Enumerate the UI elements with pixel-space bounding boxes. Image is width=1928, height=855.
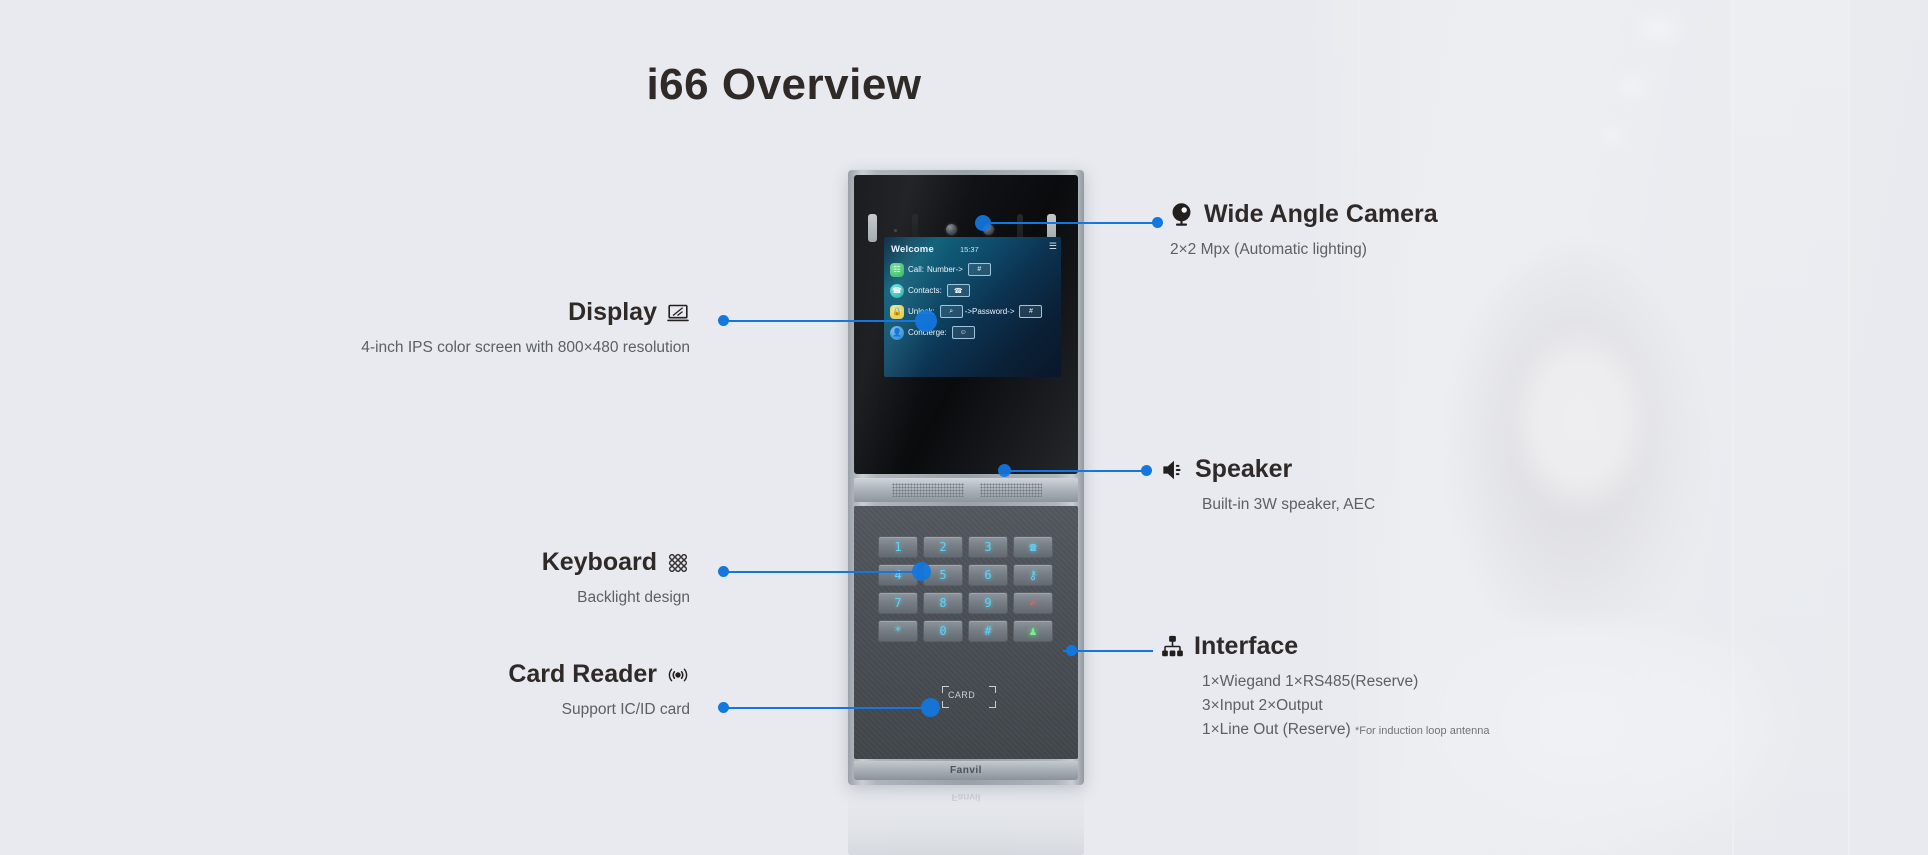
card-reader-zone: CARD — [942, 686, 996, 708]
page-title: i66 Overview — [0, 60, 1928, 110]
callout-interface-footnote: *For induction loop antenna — [1355, 725, 1490, 737]
key-hash: # — [968, 620, 1008, 642]
keypad-dots-icon — [666, 551, 690, 575]
callout-card-reader: Card Reader Support IC/ID card — [260, 660, 690, 722]
connector-dot-camera — [1152, 217, 1163, 228]
key-7: 7 — [878, 592, 918, 614]
key-concierge: ♟ — [1013, 620, 1053, 642]
screen-row-concierge-key: ☺ — [952, 326, 975, 339]
keypad-grid: 1 2 3 ☎ 4 5 6 ⚷ 7 8 9 ↶ * 0 # ♟ — [878, 536, 1054, 642]
screen-row-call-label: Call: — [908, 265, 924, 274]
connector-dot-interface — [1066, 645, 1077, 656]
callout-interface-line-2: 3×Input 2×Output — [1202, 694, 1489, 718]
callout-display: Display 4-inch IPS color screen with 800… — [180, 298, 690, 360]
key-call: ☎ — [1013, 536, 1053, 558]
brand-logo: Fanvil — [950, 765, 982, 776]
callout-speaker-title: Speaker — [1195, 455, 1292, 484]
screen-row-call: ☷ Call: Number-> # — [890, 259, 1057, 280]
page-title-text: i66 Overview — [646, 60, 921, 110]
key-6: 6 — [968, 564, 1008, 586]
key-1: 1 — [878, 536, 918, 558]
connector-dot-speaker — [1141, 465, 1152, 476]
connector-dot-keyboard — [718, 566, 729, 577]
callout-keyboard-subtitle: Backlight design — [577, 589, 690, 606]
speaker-grille-bar — [854, 478, 1078, 502]
callout-display-title: Display — [568, 298, 657, 327]
callout-speaker: Speaker Built-in 3W speaker, AEC — [1160, 455, 1375, 517]
callout-interface-line-3: 1×Line Out (Reserve) — [1202, 721, 1351, 738]
sensor-lens-icon — [946, 224, 957, 235]
key-unlock: ⚷ — [1013, 564, 1053, 586]
webcam-icon — [1168, 201, 1195, 228]
screen-row-unlock-text: ->Password-> — [965, 307, 1015, 316]
key-hangup: ↶ — [1013, 592, 1053, 614]
product-overview-canvas: i66 Overview Welcome 15:37 ☰ — [0, 0, 1928, 855]
person-icon: 👤 — [890, 326, 904, 340]
dialpad-icon: ☷ — [890, 263, 904, 277]
connector-dot-display — [718, 315, 729, 326]
key-3: 3 — [968, 536, 1008, 558]
key-2: 2 — [923, 536, 963, 558]
device-top-glass-panel: Welcome 15:37 ☰ ☷ Call: Number-> # ☎ Con… — [854, 175, 1078, 474]
device-illustration: Welcome 15:37 ☰ ☷ Call: Number-> # ☎ Con… — [848, 170, 1084, 785]
screen-row-contacts: ☎ Contacts: ☎ — [890, 280, 1057, 301]
reflection-brand-text: Fanvil — [952, 788, 981, 802]
callout-card-reader-subtitle: Support IC/ID card — [562, 701, 690, 718]
connector-card-reader — [722, 707, 927, 709]
callout-interface: Interface 1×Wiegand 1×RS485(Reserve) 3×I… — [1160, 632, 1489, 742]
monitor-icon — [666, 301, 690, 325]
connector-dot-card-reader — [718, 702, 729, 713]
connector-camera — [991, 222, 1158, 224]
rfid-wave-icon — [666, 663, 690, 687]
lock-icon: 🔒 — [890, 305, 904, 319]
screen-row-unlock-prekey: ⌕ — [940, 305, 963, 318]
connector-display — [722, 320, 922, 322]
device-keypad-panel: 1 2 3 ☎ 4 5 6 ⚷ 7 8 9 ↶ * 0 # ♟ CARD — [854, 506, 1078, 759]
anchor-camera — [975, 215, 991, 231]
callout-speaker-subtitle: Built-in 3W speaker, AEC — [1202, 496, 1375, 513]
phone-icon: ☎ — [890, 284, 904, 298]
interface-port-icon — [1160, 634, 1185, 659]
callout-keyboard-title: Keyboard — [542, 548, 657, 577]
key-0: 0 — [923, 620, 963, 642]
card-zone-label: CARD — [948, 690, 975, 700]
screen-row-call-text: Number-> — [927, 265, 963, 274]
callout-interface-line-1: 1×Wiegand 1×RS485(Reserve) — [1202, 670, 1489, 694]
screen-row-unlock-key: # — [1019, 305, 1042, 318]
device-screen: Welcome 15:37 ☰ ☷ Call: Number-> # ☎ Con… — [884, 237, 1061, 377]
screen-status-icon: ☰ — [1049, 241, 1057, 252]
connector-keyboard — [722, 571, 920, 573]
device-bottom-bezel: Fanvil — [854, 761, 1078, 780]
key-8: 8 — [923, 592, 963, 614]
screen-row-contacts-label: Contacts: — [908, 286, 942, 295]
callout-camera-subtitle: 2×2 Mpx (Automatic lighting) — [1170, 241, 1367, 258]
speaker-icon — [1160, 457, 1186, 483]
screen-row-call-key: # — [968, 263, 991, 276]
connector-speaker — [1010, 470, 1147, 472]
screen-row-contacts-key: ☎ — [947, 284, 970, 297]
callout-camera-title: Wide Angle Camera — [1204, 200, 1438, 229]
screen-welcome-text: Welcome — [891, 244, 934, 255]
callout-camera: Wide Angle Camera 2×2 Mpx (Automatic lig… — [1168, 200, 1438, 262]
screen-clock: 15:37 — [960, 245, 979, 254]
callout-display-subtitle: 4-inch IPS color screen with 800×480 res… — [361, 339, 690, 356]
callout-interface-title: Interface — [1194, 632, 1298, 661]
callout-card-reader-title: Card Reader — [508, 660, 657, 689]
key-star: * — [878, 620, 918, 642]
device-reflection: Fanvil — [848, 788, 1084, 855]
callout-keyboard: Keyboard Backlight design — [300, 548, 690, 610]
screen-menu-list: ☷ Call: Number-> # ☎ Contacts: ☎ 🔒 Unloc… — [890, 259, 1057, 343]
key-9: 9 — [968, 592, 1008, 614]
